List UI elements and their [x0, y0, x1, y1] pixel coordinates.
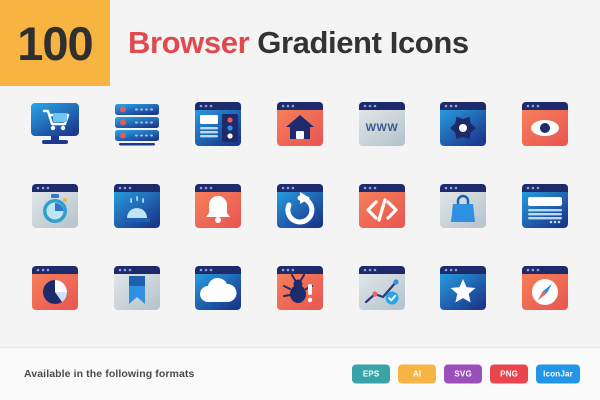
compass-icon[interactable] — [504, 258, 586, 318]
format-badge-iconjar[interactable]: IconJar — [536, 365, 580, 384]
page-title: Browser Gradient Icons — [128, 0, 469, 86]
siren-icon[interactable] — [96, 176, 178, 236]
stopwatch-icon[interactable] — [14, 176, 96, 236]
www-icon[interactable]: WWW — [341, 94, 423, 154]
refresh-icon[interactable] — [259, 176, 341, 236]
home-icon[interactable] — [259, 94, 341, 154]
gear-icon[interactable] — [423, 94, 505, 154]
star-icon[interactable] — [423, 258, 505, 318]
code-icon[interactable] — [341, 176, 423, 236]
bell-icon[interactable] — [177, 176, 259, 236]
format-badge-label: IconJar — [543, 370, 573, 379]
bug-icon[interactable] — [259, 258, 341, 318]
format-badge-label: EPS — [363, 370, 380, 379]
shopping-bag-icon[interactable] — [423, 176, 505, 236]
browser-layout-icon[interactable] — [177, 94, 259, 154]
format-badge-label: PNG — [500, 370, 518, 379]
form-list-icon[interactable] — [504, 176, 586, 236]
format-badge-ai[interactable]: AI — [398, 365, 436, 384]
formats-note: Available in the following formats — [24, 368, 194, 380]
shopping-cart-monitor-icon[interactable] — [14, 94, 96, 154]
format-badge-png[interactable]: PNG — [490, 365, 528, 384]
eye-icon[interactable] — [504, 94, 586, 154]
cloud-icon[interactable] — [177, 258, 259, 318]
page-footer: Available in the following formats EPSAI… — [0, 347, 600, 400]
server-stack-icon[interactable] — [96, 94, 178, 154]
bookmark-icon[interactable] — [96, 258, 178, 318]
line-chart-verified-icon[interactable] — [341, 258, 423, 318]
pie-chart-icon[interactable] — [14, 258, 96, 318]
page-title-rest: Gradient Icons — [257, 25, 468, 61]
icon-count-badge: 100 — [0, 0, 110, 86]
format-badge-eps[interactable]: EPS — [352, 365, 390, 384]
svg-text:WWW: WWW — [365, 122, 398, 134]
page-header: 100 Browser Gradient Icons — [0, 0, 600, 86]
format-badge-list: EPSAISVGPNGIconJar — [352, 365, 580, 384]
format-badge-label: AI — [413, 370, 421, 379]
page-title-accent: Browser — [128, 25, 249, 61]
format-badge-svg[interactable]: SVG — [444, 365, 482, 384]
icon-grid: WWW — [0, 94, 600, 318]
format-badge-label: SVG — [454, 370, 472, 379]
icon-count-value: 100 — [17, 20, 92, 67]
